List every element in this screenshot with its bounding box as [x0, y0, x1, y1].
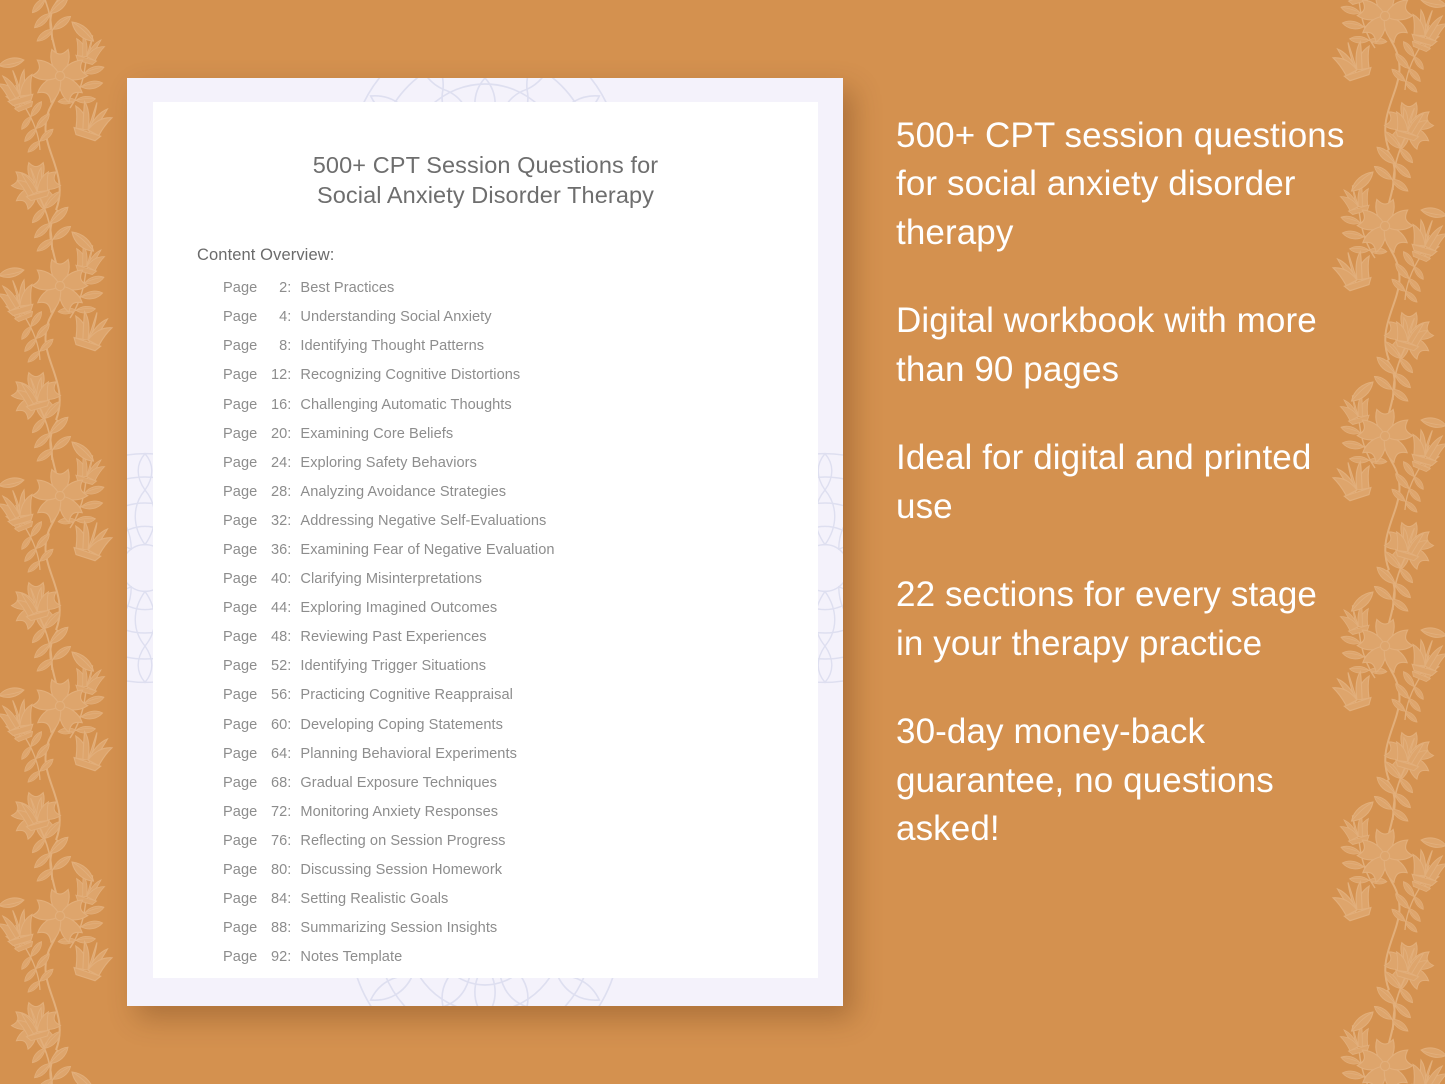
toc-section-title: Notes Template [300, 950, 402, 965]
toc-colon: : [287, 310, 291, 325]
toc-page-word: Page [223, 805, 257, 820]
toc-page-number: 20 [261, 427, 287, 442]
toc-entry[interactable]: Page36:Examining Fear of Negative Evalua… [223, 543, 818, 572]
toc-colon: : [287, 950, 291, 965]
toc-page-word: Page [223, 572, 257, 587]
toc-page-word: Page [223, 892, 257, 907]
toc-colon: : [287, 747, 291, 762]
toc-colon: : [287, 630, 291, 645]
marketing-copy-column: 500+ CPT session questions for social an… [896, 112, 1348, 854]
toc-colon: : [287, 368, 291, 383]
toc-page-number: 2 [261, 281, 287, 296]
toc-section-title: Examining Core Beliefs [300, 427, 453, 442]
toc-colon: : [287, 659, 291, 674]
toc-entry[interactable]: Page40:Clarifying Misinterpretations [223, 572, 818, 601]
toc-colon: : [287, 834, 291, 849]
workbook-preview-card[interactable]: 500+ CPT Session Questions for Social An… [127, 78, 843, 1006]
toc-section-title: Challenging Automatic Thoughts [300, 398, 511, 413]
marketing-bullet: 30-day money-back guarantee, no question… [896, 708, 1348, 853]
toc-page-word: Page [223, 688, 257, 703]
toc-colon: : [287, 776, 291, 791]
card-frame: 500+ CPT Session Questions for Social An… [127, 78, 843, 1006]
toc-colon: : [287, 339, 291, 354]
toc-colon: : [287, 892, 291, 907]
toc-page-number: 24 [261, 456, 287, 471]
toc-page-number: 52 [261, 659, 287, 674]
toc-entry[interactable]: Page56:Practicing Cognitive Reappraisal [223, 688, 818, 717]
toc-page-word: Page [223, 601, 257, 616]
toc-entry[interactable]: Page84:Setting Realistic Goals [223, 892, 818, 921]
toc-page-word: Page [223, 485, 257, 500]
toc-page-word: Page [223, 747, 257, 762]
page-title-line-1: 500+ CPT Session Questions for [193, 150, 778, 180]
toc-section-title: Clarifying Misinterpretations [300, 572, 482, 587]
toc-page-number: 40 [261, 572, 287, 587]
toc-section-title: Best Practices [300, 281, 394, 296]
workbook-page: 500+ CPT Session Questions for Social An… [153, 102, 818, 978]
toc-colon: : [287, 688, 291, 703]
toc-page-number: 36 [261, 543, 287, 558]
toc-section-title: Exploring Imagined Outcomes [300, 601, 497, 616]
toc-page-number: 16 [261, 398, 287, 413]
toc-section-title: Setting Realistic Goals [300, 892, 448, 907]
toc-section-title: Examining Fear of Negative Evaluation [300, 543, 554, 558]
toc-colon: : [287, 427, 291, 442]
toc-section-title: Recognizing Cognitive Distortions [300, 368, 520, 383]
toc-page-word: Page [223, 543, 257, 558]
toc-page-word: Page [223, 776, 257, 791]
toc-page-number: 60 [261, 718, 287, 733]
toc-colon: : [287, 718, 291, 733]
toc-section-title: Analyzing Avoidance Strategies [300, 485, 506, 500]
toc-page-word: Page [223, 427, 257, 442]
toc-entry[interactable]: Page60:Developing Coping Statements [223, 718, 818, 747]
toc-page-number: 64 [261, 747, 287, 762]
toc-page-word: Page [223, 659, 257, 674]
marketing-bullet: 22 sections for every stage in your ther… [896, 571, 1348, 668]
toc-section-title: Exploring Safety Behaviors [300, 456, 477, 471]
toc-page-number: 72 [261, 805, 287, 820]
toc-colon: : [287, 572, 291, 587]
toc-entry[interactable]: Page76:Reflecting on Session Progress [223, 834, 818, 863]
toc-page-word: Page [223, 630, 257, 645]
marketing-bullet: Digital workbook with more than 90 pages [896, 297, 1348, 394]
toc-entry[interactable]: Page2:Best Practices [223, 281, 818, 310]
toc-page-number: 44 [261, 601, 287, 616]
toc-colon: : [287, 456, 291, 471]
toc-colon: : [287, 514, 291, 529]
toc-section-title: Reflecting on Session Progress [300, 834, 505, 849]
toc-colon: : [287, 863, 291, 878]
toc-page-word: Page [223, 281, 257, 296]
toc-page-number: 48 [261, 630, 287, 645]
toc-page-word: Page [223, 310, 257, 325]
toc-entry[interactable]: Page92:Notes Template [223, 950, 818, 979]
toc-section-title: Identifying Trigger Situations [300, 659, 486, 674]
toc-entry[interactable]: Page8:Identifying Thought Patterns [223, 339, 818, 368]
toc-page-number: 76 [261, 834, 287, 849]
toc-entry[interactable]: Page20:Examining Core Beliefs [223, 427, 818, 456]
toc-page-word: Page [223, 863, 257, 878]
toc-entry[interactable]: Page48:Reviewing Past Experiences [223, 630, 818, 659]
marketing-bullet: 500+ CPT session questions for social an… [896, 112, 1348, 257]
listing-layout: 500+ CPT Session Questions for Social An… [0, 0, 1445, 1084]
toc-entry[interactable]: Page12:Recognizing Cognitive Distortions [223, 368, 818, 397]
toc-section-title: Planning Behavioral Experiments [300, 747, 517, 762]
toc-page-number: 28 [261, 485, 287, 500]
toc-page-word: Page [223, 339, 257, 354]
toc-section-title: Summarizing Session Insights [300, 921, 497, 936]
toc-page-number: 56 [261, 688, 287, 703]
toc-colon: : [287, 485, 291, 500]
toc-page-number: 80 [261, 863, 287, 878]
toc-section-title: Developing Coping Statements [300, 718, 503, 733]
toc-colon: : [287, 921, 291, 936]
page-title-line-2: Social Anxiety Disorder Therapy [193, 180, 778, 210]
toc-section-title: Practicing Cognitive Reappraisal [300, 688, 513, 703]
toc-page-number: 84 [261, 892, 287, 907]
toc-page-word: Page [223, 398, 257, 413]
page-title: 500+ CPT Session Questions for Social An… [153, 150, 818, 210]
toc-page-word: Page [223, 368, 257, 383]
toc-entry[interactable]: Page80:Discussing Session Homework [223, 863, 818, 892]
toc-colon: : [287, 281, 291, 296]
toc-colon: : [287, 805, 291, 820]
marketing-bullet: Ideal for digital and printed use [896, 434, 1348, 531]
toc-entry[interactable]: Page64:Planning Behavioral Experiments [223, 747, 818, 776]
toc-entry[interactable]: Page88:Summarizing Session Insights [223, 921, 818, 950]
toc-entry[interactable]: Page4:Understanding Social Anxiety [223, 310, 818, 339]
toc-colon: : [287, 601, 291, 616]
toc-page-word: Page [223, 834, 257, 849]
toc-page-number: 12 [261, 368, 287, 383]
toc-page-number: 92 [261, 950, 287, 965]
toc-section-title: Reviewing Past Experiences [300, 630, 486, 645]
toc-page-word: Page [223, 921, 257, 936]
toc-page-word: Page [223, 950, 257, 965]
toc-section-title: Monitoring Anxiety Responses [300, 805, 498, 820]
toc-page-word: Page [223, 514, 257, 529]
toc-colon: : [287, 398, 291, 413]
toc-page-number: 68 [261, 776, 287, 791]
toc-entry[interactable]: Page16:Challenging Automatic Thoughts [223, 398, 818, 427]
toc-entry[interactable]: Page24:Exploring Safety Behaviors [223, 456, 818, 485]
toc-section-title: Gradual Exposure Techniques [300, 776, 497, 791]
toc-entry[interactable]: Page32:Addressing Negative Self-Evaluati… [223, 514, 818, 543]
table-of-contents: Page2:Best PracticesPage4:Understanding … [153, 281, 818, 979]
toc-entry[interactable]: Page28:Analyzing Avoidance Strategies [223, 485, 818, 514]
toc-page-number: 8 [261, 339, 287, 354]
toc-entry[interactable]: Page44:Exploring Imagined Outcomes [223, 601, 818, 630]
toc-page-number: 32 [261, 514, 287, 529]
toc-entry[interactable]: Page52:Identifying Trigger Situations [223, 659, 818, 688]
toc-section-title: Identifying Thought Patterns [300, 339, 484, 354]
content-overview-label: Content Overview: [153, 246, 818, 265]
toc-section-title: Discussing Session Homework [300, 863, 502, 878]
toc-page-word: Page [223, 718, 257, 733]
toc-entry[interactable]: Page68:Gradual Exposure Techniques [223, 776, 818, 805]
toc-entry[interactable]: Page72:Monitoring Anxiety Responses [223, 805, 818, 834]
toc-page-number: 88 [261, 921, 287, 936]
toc-colon: : [287, 543, 291, 558]
toc-section-title: Addressing Negative Self-Evaluations [300, 514, 546, 529]
toc-page-number: 4 [261, 310, 287, 325]
toc-section-title: Understanding Social Anxiety [300, 310, 491, 325]
toc-page-word: Page [223, 456, 257, 471]
